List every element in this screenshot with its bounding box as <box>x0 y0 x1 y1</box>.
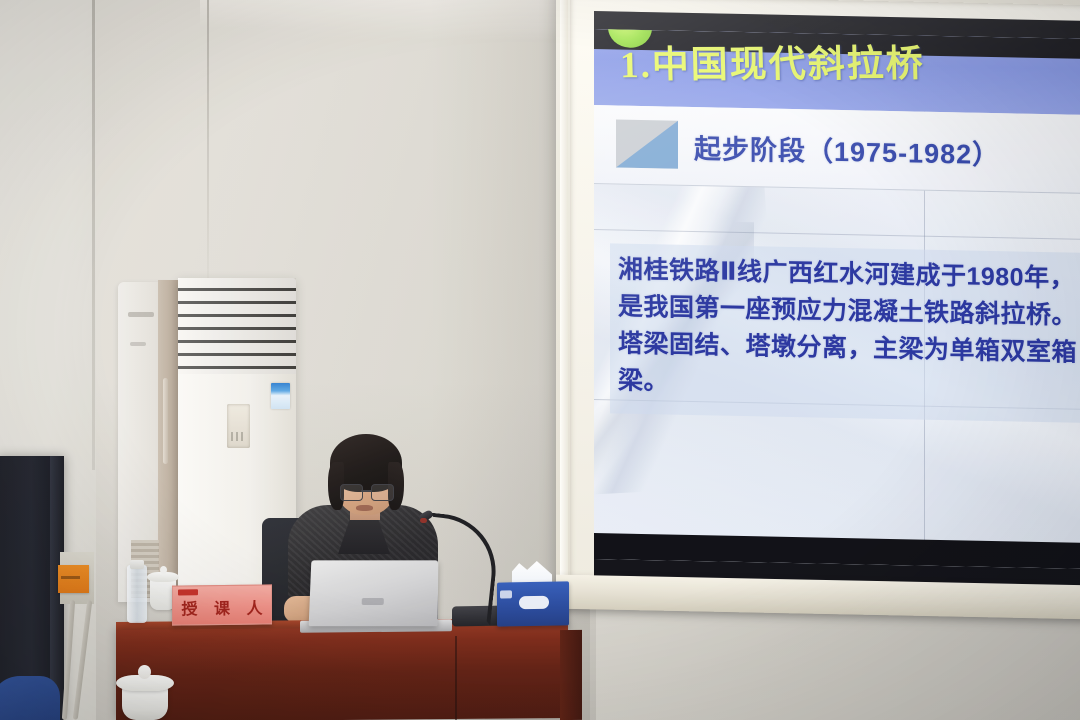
podium-panel-seam <box>455 636 457 720</box>
glasses-bridge <box>361 490 371 492</box>
orange-wall-label <box>58 565 89 593</box>
glasses-right-lens <box>371 484 394 501</box>
presentation-slide: 1.中国现代斜拉桥 起步阶段（1975-1982） 湘桂铁路Ⅱ线广西红水河建成于… <box>594 29 1080 569</box>
teacup-lid-knob <box>160 566 167 574</box>
nameplate-label: 授 课 人 <box>173 594 271 619</box>
air-conditioner-brand-mark-secondary <box>130 342 146 346</box>
wall-corner-line <box>92 0 95 470</box>
air-conditioner-control-panel[interactable] <box>227 404 250 448</box>
wall-corner-line-secondary <box>207 0 209 290</box>
lecture-room-photo: 1.中国现代斜拉桥 起步阶段（1975-1982） 湘桂铁路Ⅱ线广西红水河建成于… <box>0 0 1080 720</box>
background-person-shoulder <box>0 676 60 720</box>
air-conditioner-side-strip <box>158 280 180 610</box>
screen-frame-highlight <box>560 0 568 599</box>
slide-subtitle-row: 起步阶段（1975-1982） <box>594 105 1080 194</box>
slide-body-block: 湘桂铁路Ⅱ线广西红水河建成于1980年， 是我国第一座预应力混凝土铁路斜拉桥。 … <box>610 243 1080 423</box>
energy-efficiency-label <box>271 383 290 409</box>
laptop-logo <box>362 598 384 605</box>
podium-side-panel <box>560 630 582 720</box>
projection-screen-surface[interactable]: 1.中国现代斜拉桥 起步阶段（1975-1982） 湘桂铁路Ⅱ线广西红水河建成于… <box>594 11 1080 595</box>
microphone-indicator-ring <box>420 518 427 523</box>
air-conditioner-handle[interactable] <box>163 378 168 464</box>
podium <box>116 626 568 720</box>
instructor-mouth <box>356 505 373 511</box>
water-bottle-cap[interactable] <box>130 560 144 569</box>
air-conditioner-louver-shading <box>178 278 296 374</box>
tissue-box[interactable] <box>497 581 569 626</box>
glasses-icon <box>340 484 392 499</box>
slide-title: 1.中国现代斜拉桥 <box>620 46 926 84</box>
teacup-foreground-knob <box>138 665 151 679</box>
glasses-left-lens <box>340 484 363 501</box>
tissue-box-logo <box>519 596 549 610</box>
slide-title-band: 1.中国现代斜拉桥 <box>594 29 1080 115</box>
water-bottle[interactable] <box>127 565 147 623</box>
slide-subtitle: 起步阶段（1975-1982） <box>694 127 1000 172</box>
nameplate: 授 课 人 <box>172 584 272 625</box>
blue-triangle-icon <box>616 119 678 168</box>
air-conditioner-brand-mark <box>128 312 154 317</box>
tissue-box-tab <box>500 590 512 598</box>
